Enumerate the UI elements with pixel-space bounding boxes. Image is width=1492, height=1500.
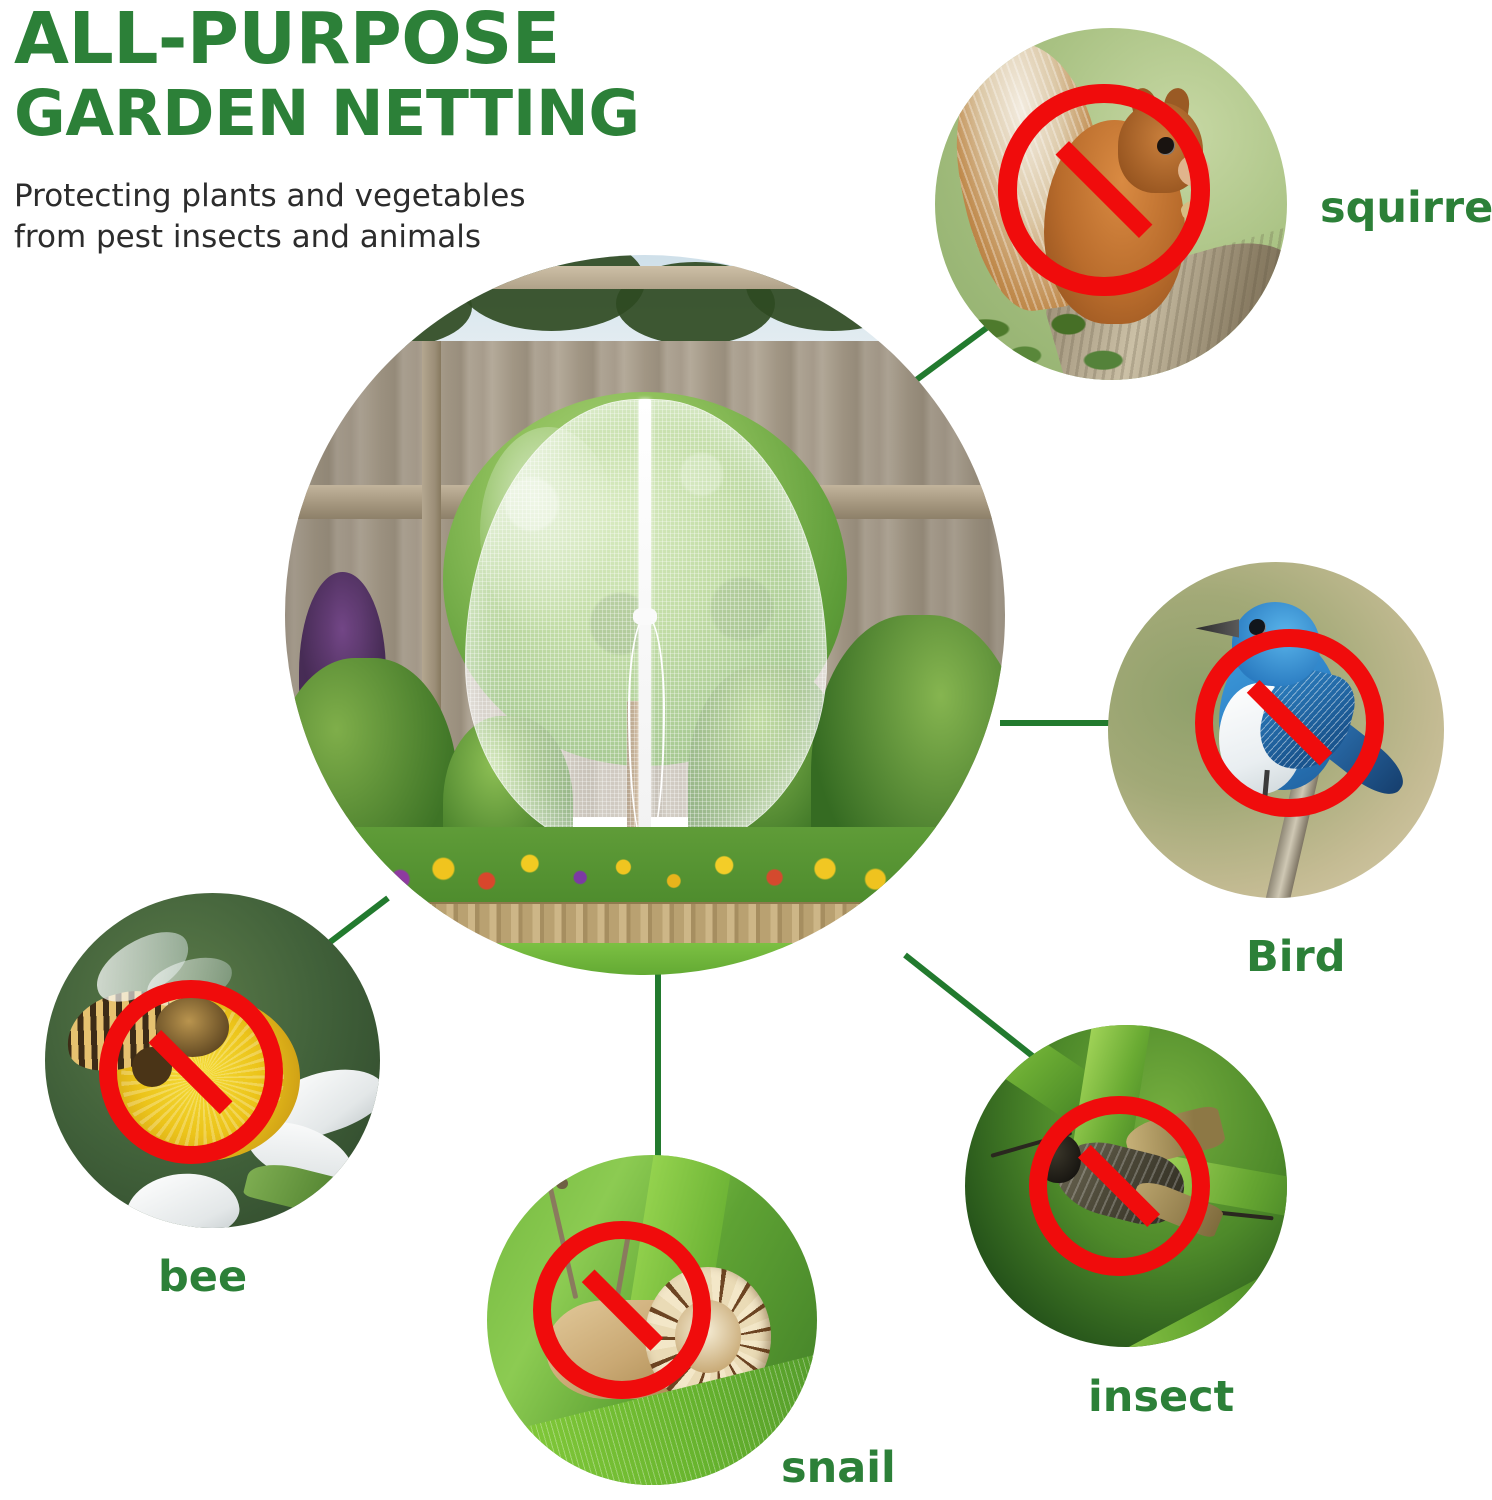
page-title-line-2: GARDEN NETTING xyxy=(14,74,654,155)
pest-circle-squirrel xyxy=(935,28,1287,380)
prohibition-sign-icon xyxy=(1195,629,1383,817)
pest-circle-bee xyxy=(45,893,380,1228)
main-product-image xyxy=(285,255,1005,975)
log-border-edging xyxy=(285,902,1005,949)
pest-circle-bird xyxy=(1108,562,1444,898)
prohibition-sign-icon xyxy=(533,1221,711,1399)
prohibition-sign-icon xyxy=(1029,1096,1209,1276)
page-title-line-1: ALL-PURPOSE xyxy=(14,4,654,74)
flower-bed xyxy=(285,827,1005,913)
prohibition-sign-icon xyxy=(998,84,1209,295)
pest-label-bee: bee xyxy=(158,1252,247,1302)
netting-zipper-pull xyxy=(633,608,656,625)
fence-top-rail xyxy=(285,266,1005,289)
garden-scene xyxy=(285,255,1005,975)
pest-label-squirrel: squirrel xyxy=(1320,183,1492,233)
pest-circle-snail xyxy=(487,1155,817,1485)
pest-label-snail: snail xyxy=(781,1443,896,1493)
prohibition-sign-icon xyxy=(99,980,283,1164)
lawn-grass xyxy=(285,943,1005,975)
page-subtitle: Protecting plants and vegetables from pe… xyxy=(14,176,604,258)
pest-circle-insect xyxy=(965,1025,1287,1347)
snail-tentacle-tip xyxy=(556,1178,567,1189)
pest-label-insect: insect xyxy=(1088,1372,1234,1422)
infographic-canvas: ALL-PURPOSE GARDEN NETTING Protecting pl… xyxy=(0,0,1492,1500)
pest-label-bird: Bird xyxy=(1246,932,1346,982)
headline-block: ALL-PURPOSE GARDEN NETTING Protecting pl… xyxy=(14,4,654,259)
